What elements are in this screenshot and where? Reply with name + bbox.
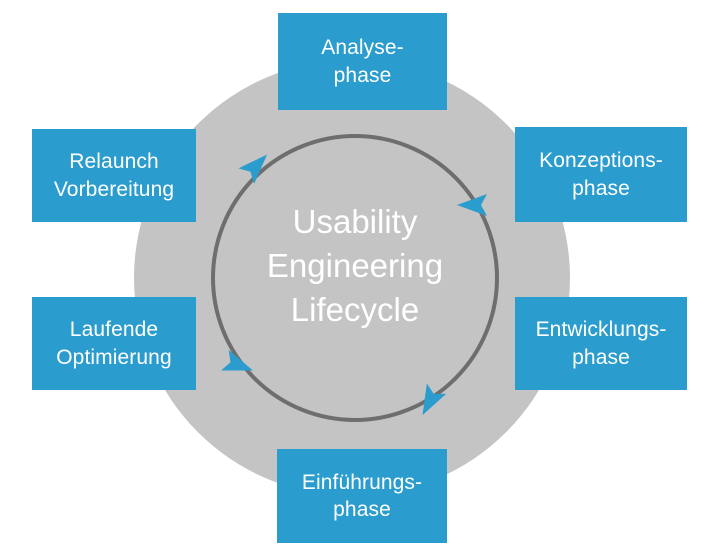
phase-box-analyse[interactable]: Analyse- phase [278, 13, 447, 110]
phase-box-relaunch-vorbereitung[interactable]: Relaunch Vorbereitung [32, 129, 196, 222]
backdrop-circle [134, 60, 570, 496]
phase-box-einfuehrungs[interactable]: Einführungs- phase [277, 449, 447, 543]
phase-label-einfuehrungs-line-1: Einführungs- [302, 469, 422, 496]
phase-label-entwicklungs-line-1: Entwicklungs- [536, 316, 667, 343]
phase-label-konzeptions-line-1: Konzeptions- [539, 147, 663, 174]
phase-label-relaunch-line-1: Relaunch [69, 148, 159, 175]
phase-label-analyse-line-1: Analyse- [321, 34, 404, 61]
phase-label-konzeptions-line-2: phase [572, 175, 630, 202]
phase-box-laufende-optimierung[interactable]: Laufende Optimierung [32, 297, 196, 390]
usability-lifecycle-diagram: Usability Engineering Lifecycle Analyse-… [0, 0, 705, 559]
phase-label-laufende-line-1: Laufende [70, 316, 158, 343]
phase-box-entwicklungs[interactable]: Entwicklungs- phase [515, 297, 687, 390]
phase-label-entwicklungs-line-2: phase [572, 344, 630, 371]
phase-label-relaunch-line-2: Vorbereitung [54, 176, 174, 203]
phase-label-analyse-line-2: phase [334, 62, 392, 89]
phase-box-konzeptions[interactable]: Konzeptions- phase [515, 127, 687, 222]
phase-label-laufende-line-2: Optimierung [56, 344, 171, 371]
phase-label-einfuehrungs-line-2: phase [333, 496, 391, 523]
